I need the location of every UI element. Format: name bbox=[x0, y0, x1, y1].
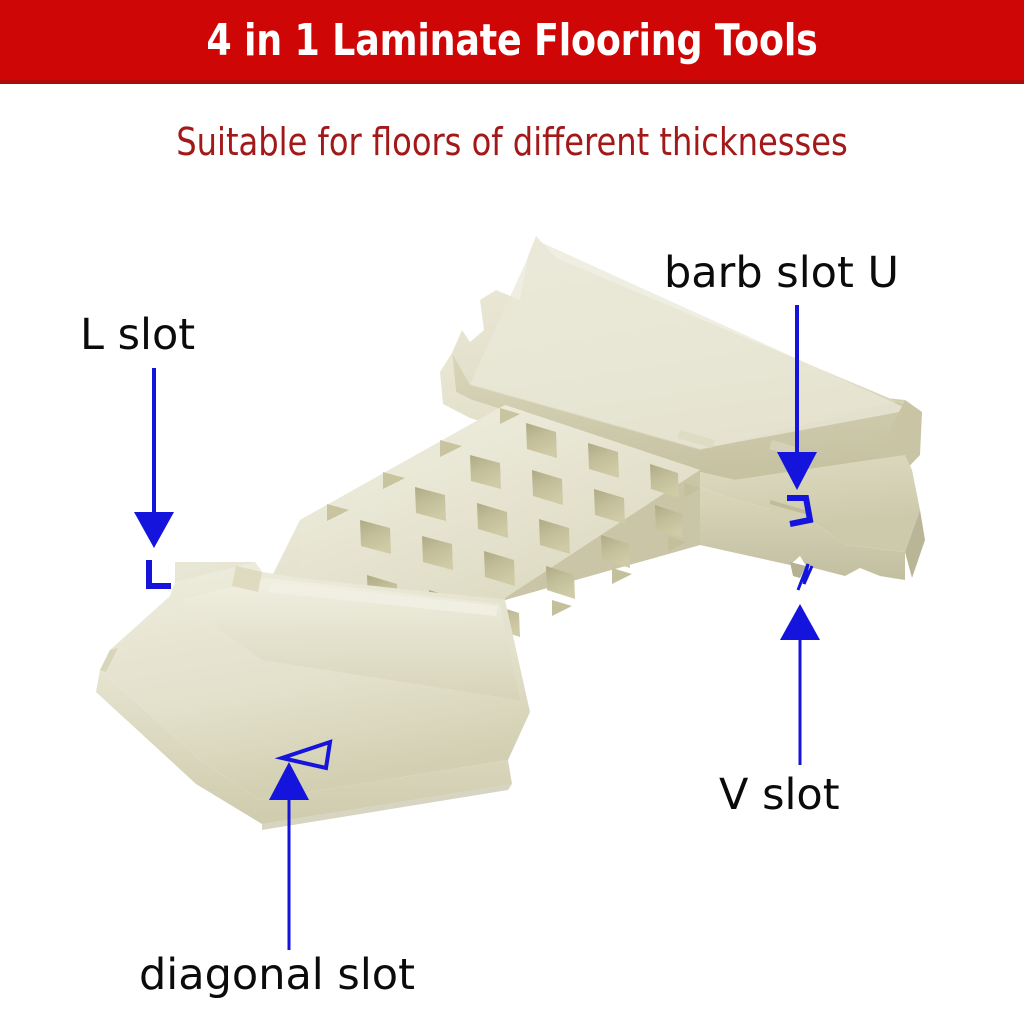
label-barb-slot-u: barb slot U bbox=[664, 248, 899, 298]
label-v-slot: V slot bbox=[719, 770, 840, 820]
label-diagonal-slot: diagonal slot bbox=[139, 950, 415, 1000]
label-l-slot: L slot bbox=[80, 310, 195, 360]
annotation-v-slot bbox=[780, 564, 820, 765]
product-illustration bbox=[0, 0, 1024, 1024]
lower-paddle bbox=[96, 562, 530, 830]
annotation-l-slot bbox=[134, 368, 174, 586]
product-infographic: 4 in 1 Laminate Flooring Tools Suitable … bbox=[0, 0, 1024, 1024]
